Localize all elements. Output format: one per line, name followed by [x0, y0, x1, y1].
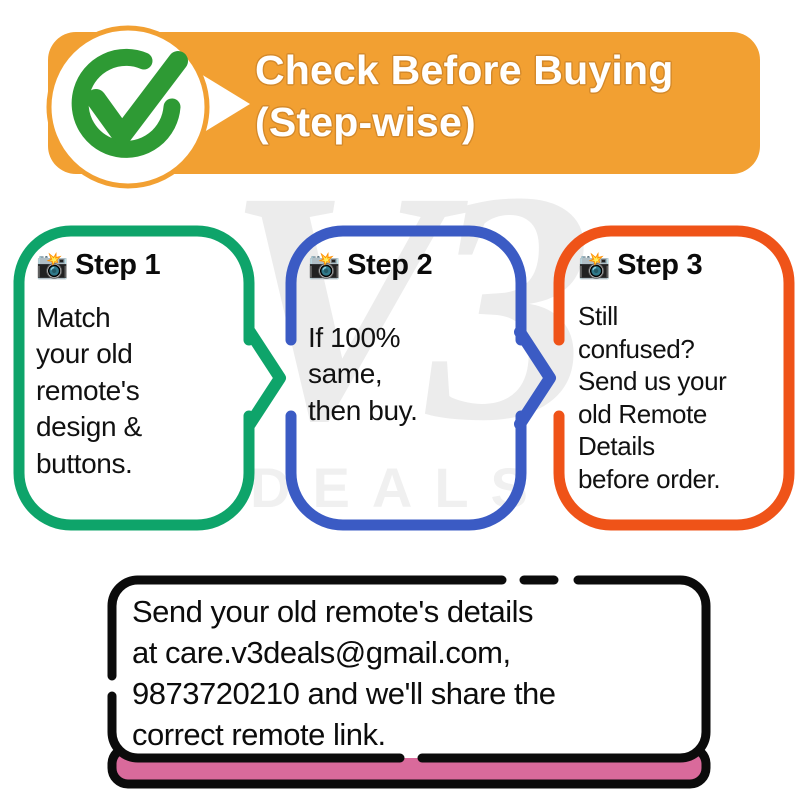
- step-2-body: If 100% same, then buy.: [308, 320, 514, 429]
- step-3-heading: 📸 Step 3: [578, 244, 784, 286]
- step-1-heading: 📸 Step 1: [36, 244, 242, 286]
- header-section: Check Before Buying (Step-wise): [0, 0, 800, 200]
- step-card-3-content: 📸 Step 3 Still confused? Send us your ol…: [578, 244, 784, 516]
- camera-with-flash-icon: 📸: [36, 252, 68, 278]
- chevron-right-icon-1: [236, 318, 296, 438]
- step-card-1[interactable]: 📸 Step 1 Match your old remote's design …: [10, 222, 258, 534]
- step-card-1-content: 📸 Step 1 Match your old remote's design …: [36, 244, 242, 516]
- step-1-body: Match your old remote's design & buttons…: [36, 300, 242, 482]
- page-title: Check Before Buying (Step-wise): [255, 44, 760, 149]
- step-card-2[interactable]: 📸 Step 2 If 100% same, then buy.: [282, 222, 530, 534]
- step-1-title: Step 1: [75, 249, 160, 282]
- contact-callout[interactable]: Send your old remote's details at care.v…: [104, 572, 714, 794]
- step-card-2-content: 📸 Step 2 If 100% same, then buy.: [308, 244, 514, 516]
- step-3-body: Still confused? Send us your old Remote …: [578, 300, 784, 495]
- camera-with-flash-icon: 📸: [578, 252, 610, 278]
- step-2-heading: 📸 Step 2: [308, 244, 514, 286]
- steps-row: 📸 Step 1 Match your old remote's design …: [0, 222, 800, 542]
- step-card-3[interactable]: 📸 Step 3 Still confused? Send us your ol…: [550, 222, 798, 534]
- contact-callout-text: Send your old remote's details at care.v…: [132, 592, 692, 756]
- page-title-line-1: Check Before Buying: [255, 44, 760, 96]
- page-title-line-2: (Step-wise): [255, 96, 760, 148]
- step-2-title: Step 2: [347, 249, 432, 282]
- step-3-title: Step 3: [617, 249, 702, 282]
- green-check-circle-icon: [44, 23, 212, 191]
- chevron-right-icon-2: [506, 318, 566, 438]
- camera-with-flash-icon: 📸: [308, 252, 340, 278]
